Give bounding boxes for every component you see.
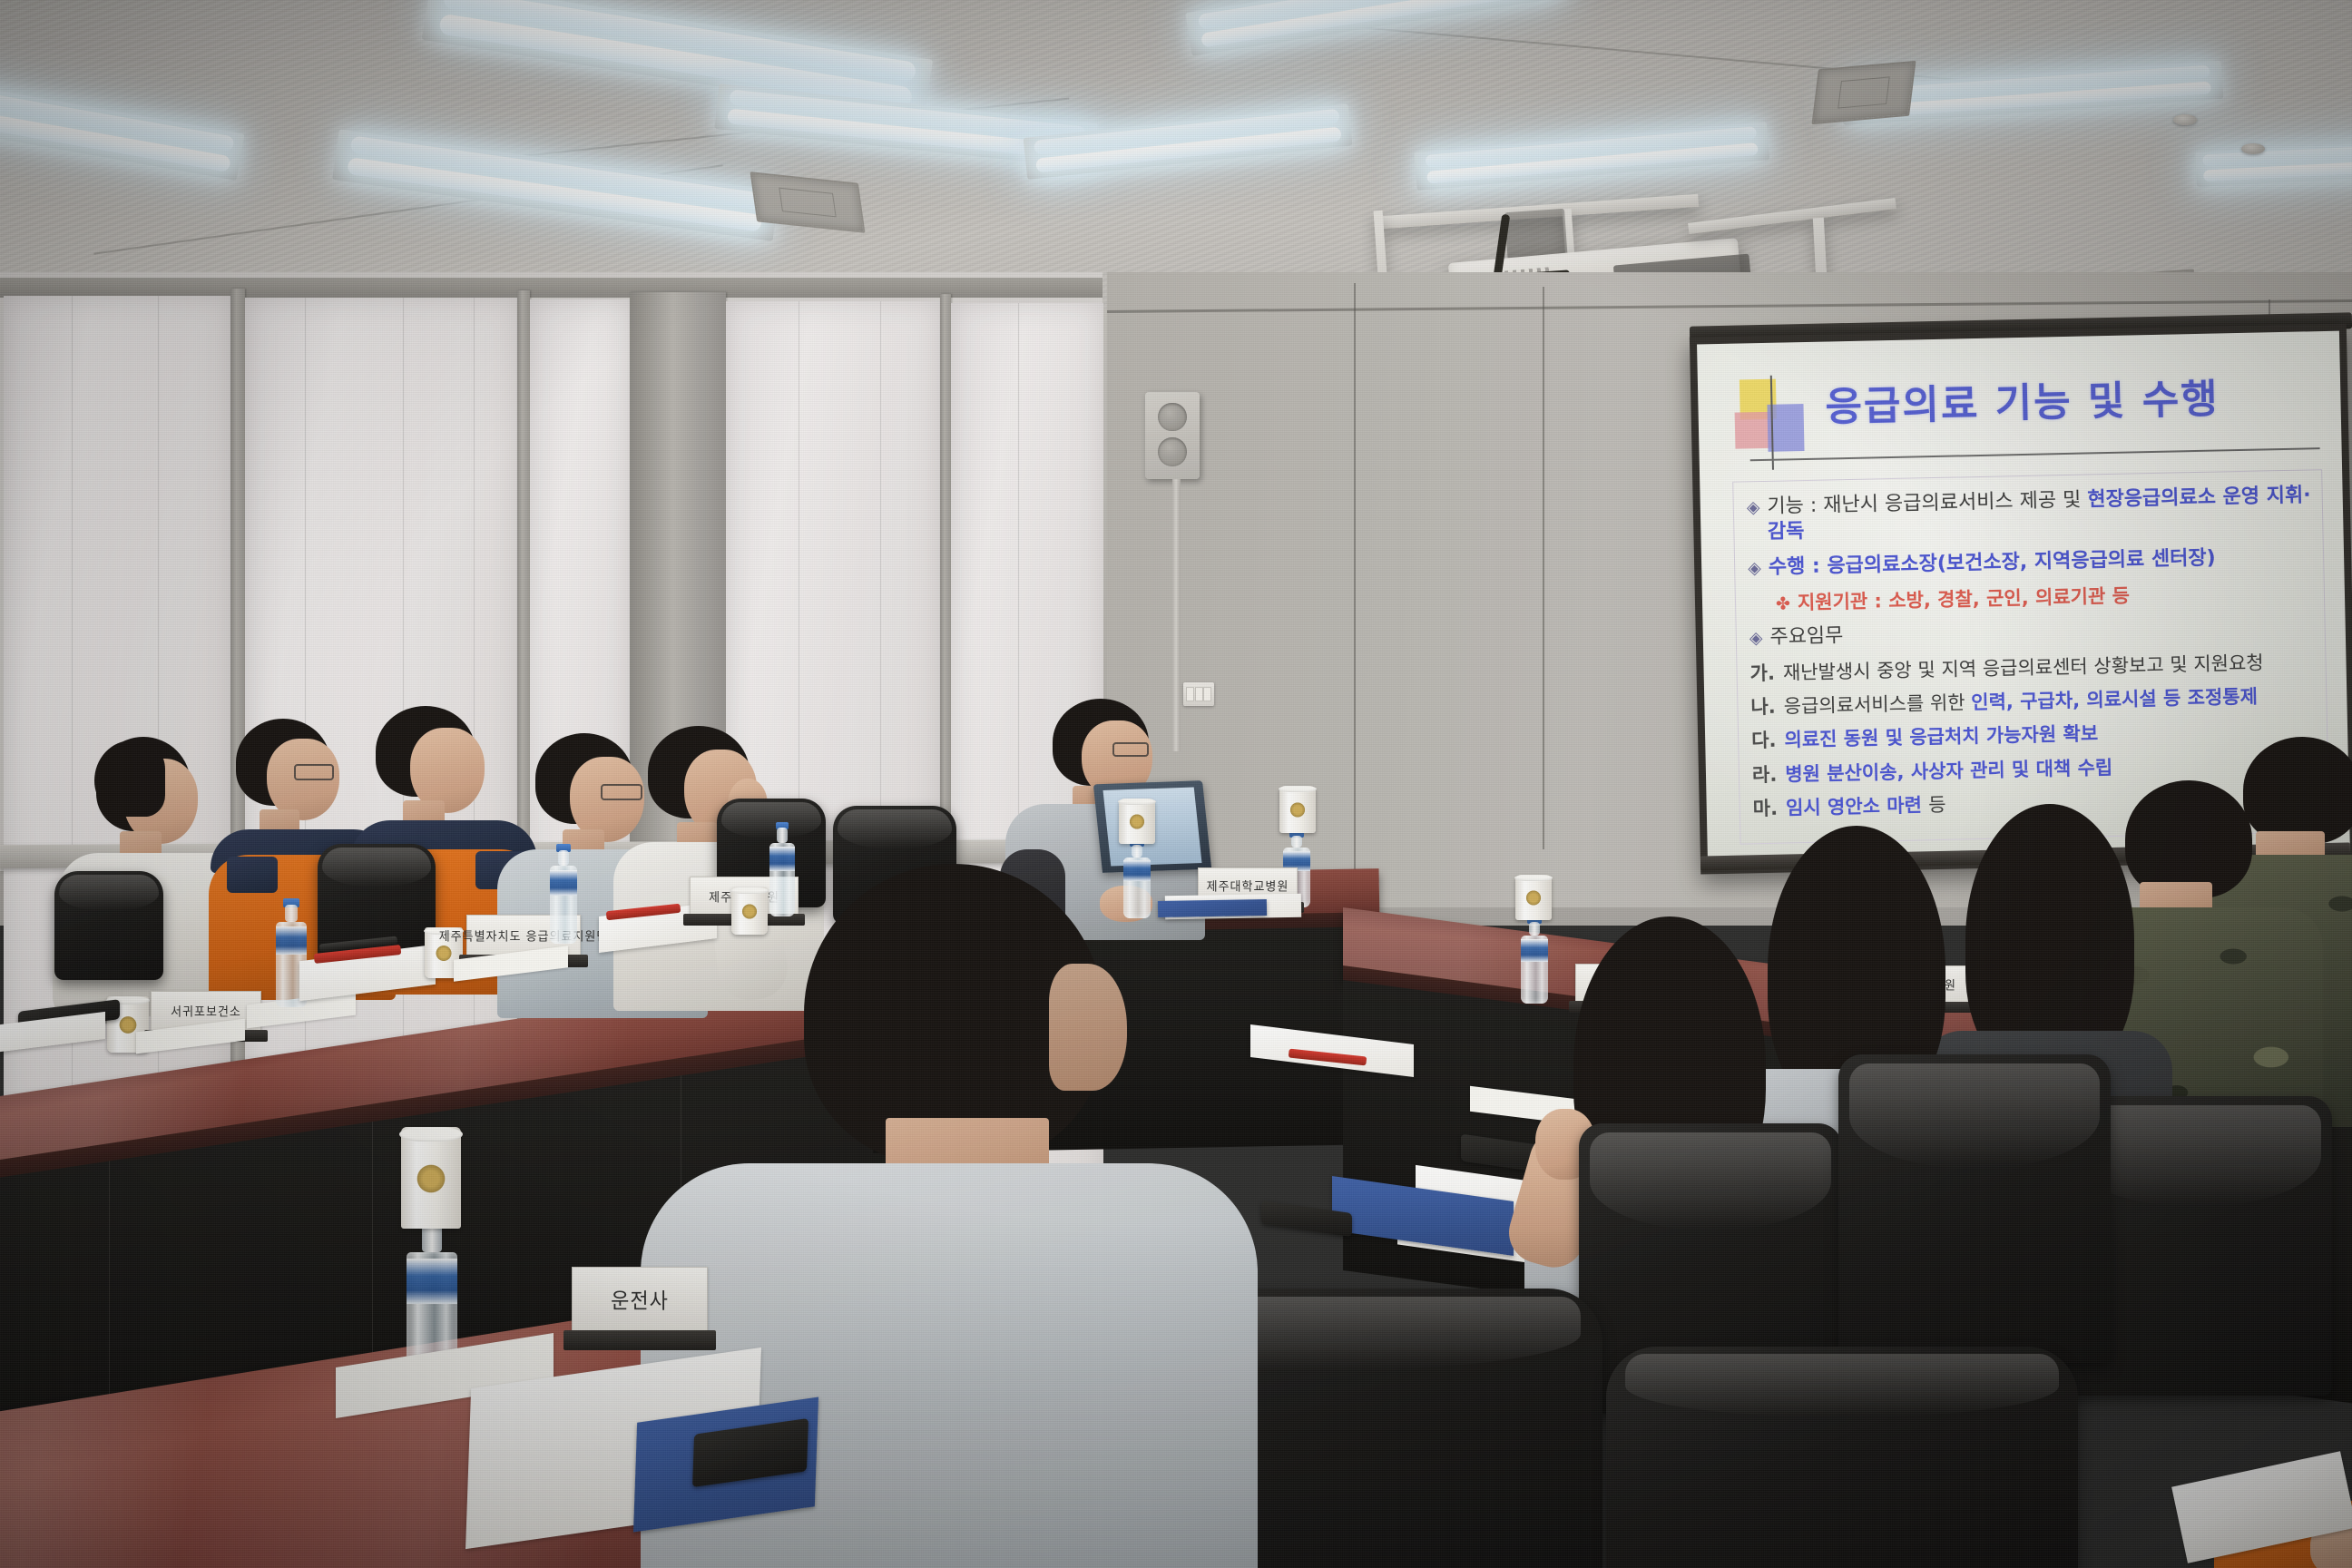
list-marker: 다. <box>1751 729 1777 753</box>
paper-cup-inverted[interactable] <box>1119 799 1155 844</box>
slide-list-text: 응급의료서비스를 위한 인력, 구급차, 의료시설 등 조정통제 <box>1783 683 2317 719</box>
sprinkler-head <box>2173 114 2197 125</box>
list-marker: 마. <box>1753 796 1779 820</box>
wall-panel-seam <box>1354 283 1356 882</box>
slide-bullet-row: ◈ 주요임무 <box>1749 614 2316 652</box>
nameplate-driver: 운전사 <box>572 1267 708 1350</box>
slide-title: 응급의료 기능 및 수행 <box>1825 364 2314 432</box>
bullet-icon: ◈ <box>1749 628 1763 650</box>
list-marker: 나. <box>1750 695 1776 720</box>
wall-panel-seam <box>1543 287 1544 849</box>
wall-speaker <box>1145 392 1200 479</box>
paper-cup-inverted-foreground[interactable] <box>401 1127 461 1229</box>
slide-bullet-text: 주요임무 <box>1769 614 2316 651</box>
office-chair[interactable] <box>1838 1054 2111 1363</box>
slide-bullet-text: 지원기관 : 소방, 경찰, 군인, 의료기관 등 <box>1798 580 2316 614</box>
person-foreground-gray-shirt <box>750 864 1294 1568</box>
slide-list-item: 가. 재난발생시 중앙 및 지역 응급의료센터 상황보고 및 지원요청 <box>1749 650 2316 685</box>
hair-back <box>94 740 165 817</box>
slide-list-text: 재난발생시 중앙 및 지역 응급의료센터 상황보고 및 지원요청 <box>1783 650 2317 685</box>
slide-bullet-text: 수행 : 응급의료소장(보건소장, 지역응급의료 센터장) <box>1769 544 2315 580</box>
slide-bullet-text: 기능 : 재난시 응급의료서비스 제공 및 현장응급의료소 운영 지휘·감독 <box>1767 483 2313 544</box>
eyeglasses <box>294 764 334 780</box>
water-bottle[interactable] <box>550 844 577 944</box>
list-marker: 라. <box>1752 762 1778 787</box>
eyeglasses <box>1112 742 1149 757</box>
slide-list-item: 나. 응급의료서비스를 위한 인력, 구급차, 의료시설 등 조정통제 <box>1750 683 2317 719</box>
slide-bullet-row: ◈ 수행 : 응급의료소장(보건소장, 지역응급의료 센터장) <box>1748 544 2314 581</box>
paper-cup-inverted[interactable] <box>1279 786 1316 833</box>
slide-bullet-row: ◈ 기능 : 재난시 응급의료서비스 제공 및 현장응급의료소 운영 지휘·감독 <box>1747 483 2314 544</box>
window-header <box>0 278 1102 298</box>
bullet-icon: ◈ <box>1747 497 1760 519</box>
paper-cup-inverted[interactable] <box>1515 875 1552 920</box>
slide-list-item: 다. 의료진 동원 및 응급처치 가능자원 확보 <box>1751 717 2318 752</box>
sprinkler-head <box>2241 143 2265 154</box>
office-chair[interactable] <box>54 871 163 980</box>
uniform-shoulder-patch <box>227 857 278 893</box>
bullet-icon: ◈ <box>1748 558 1761 580</box>
office-chair-foreground[interactable] <box>1606 1347 2078 1568</box>
slide-title-rule <box>1750 447 2320 461</box>
bullet-icon: ✤ <box>1776 593 1790 615</box>
slide-logo-icon <box>1734 378 1814 471</box>
ceiling-vent <box>1811 61 1916 124</box>
list-marker: 가. <box>1749 661 1775 686</box>
conference-room-scene: 응급의료 기능 및 수행 ◈ 기능 : 재난시 응급의료서비스 제공 및 현장응… <box>0 0 2352 1568</box>
slide-bullet-row: ✤ 지원기관 : 소방, 경찰, 군인, 의료기관 등 <box>1749 580 2315 616</box>
face-side <box>1049 964 1127 1091</box>
